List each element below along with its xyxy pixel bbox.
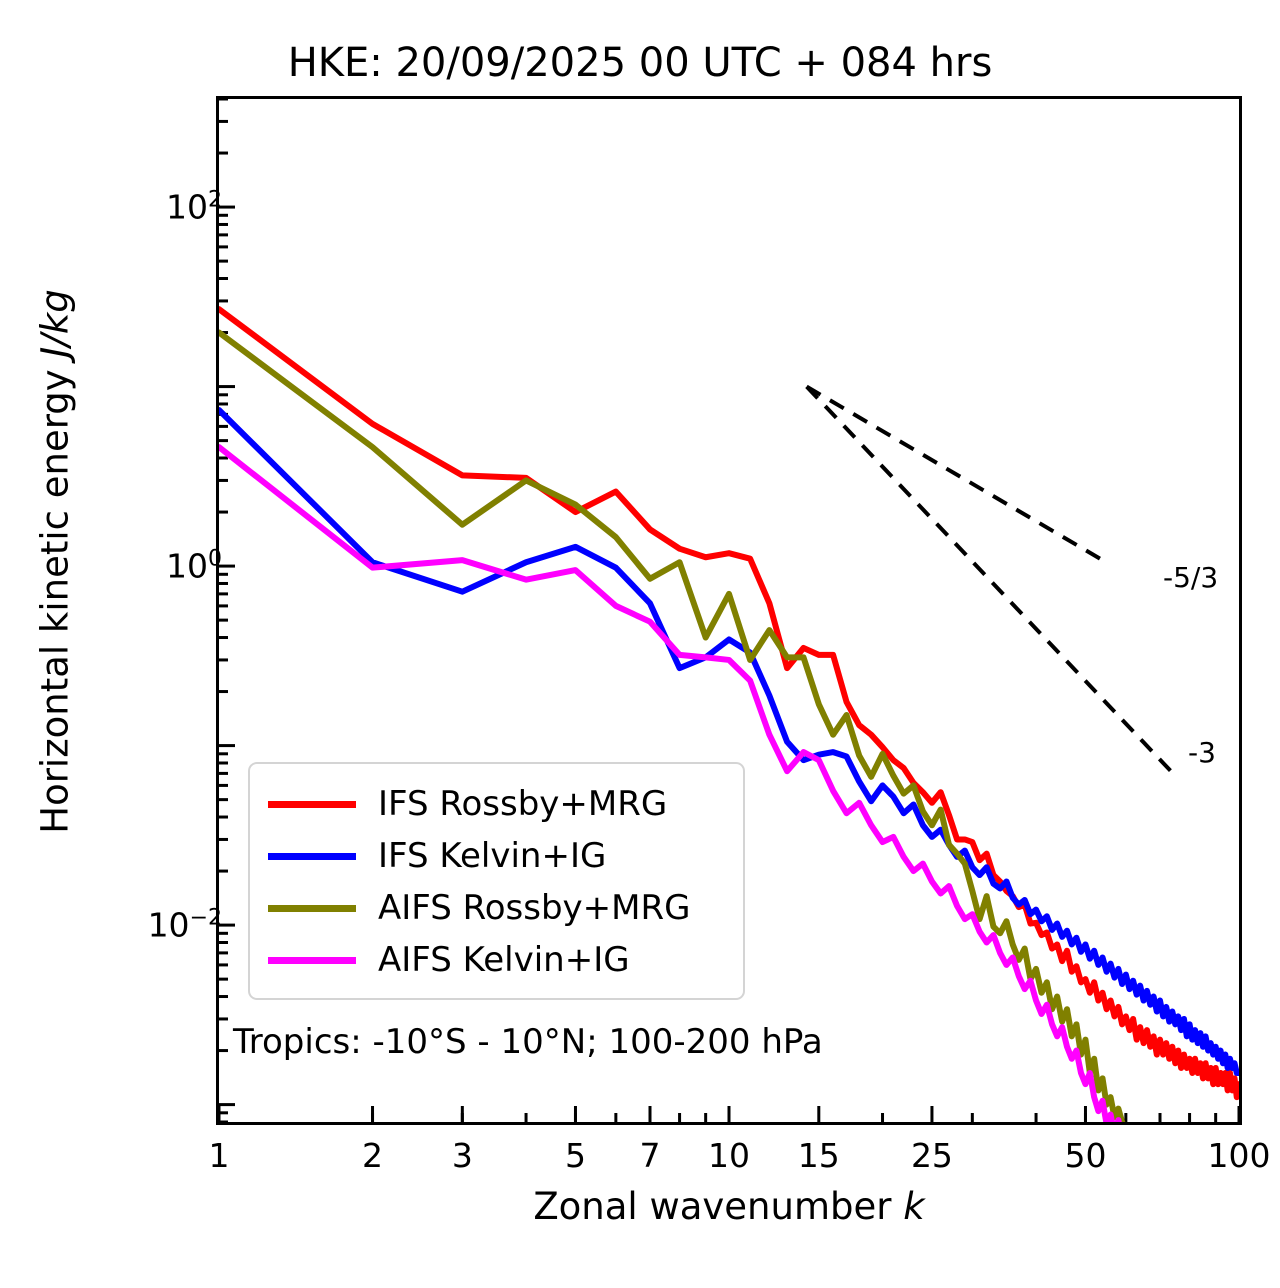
legend: IFS Rossby+MRGIFS Kelvin+IGAIFS Rossby+M… <box>248 762 745 1000</box>
legend-color-swatch <box>268 957 356 964</box>
region-annotation: Tropics: -10°S - 10°N; 100-200 hPa <box>233 1022 823 1062</box>
y-axis-label-units: J/kg <box>34 289 77 357</box>
page-title: HKE: 20/09/2025 00 UTC + 084 hrs <box>0 40 1280 86</box>
slope-label-3: -3 <box>1188 736 1216 769</box>
y-axis-label-main: Horizontal kinetic energy <box>34 358 77 834</box>
x-tick-label: 10 <box>708 1136 750 1175</box>
y-tick-label: 102 <box>166 188 222 227</box>
reference-slope-lines <box>807 387 1176 776</box>
x-tick-label: 3 <box>452 1136 473 1175</box>
x-tick-label: 15 <box>798 1136 840 1175</box>
x-tick-label: 1 <box>209 1136 230 1175</box>
legend-item[interactable]: AIFS Kelvin+IG <box>250 934 743 986</box>
legend-item[interactable]: IFS Kelvin+IG <box>250 830 743 882</box>
slope-label-5-3: -5/3 <box>1163 561 1218 594</box>
y-axis-label: Horizontal kinetic energy J/kg <box>34 242 77 882</box>
x-tick-label: 25 <box>911 1136 953 1175</box>
x-tick-label: 50 <box>1064 1136 1106 1175</box>
legend-item[interactable]: IFS Rossby+MRG <box>250 778 743 830</box>
series-lines <box>219 309 1239 1122</box>
y-tick-label: 100 <box>166 547 222 586</box>
legend-item-label: IFS Kelvin+IG <box>378 839 606 873</box>
y-tick-label: 10−2 <box>148 906 222 945</box>
x-tick-label: 2 <box>362 1136 383 1175</box>
legend-item-label: IFS Rossby+MRG <box>378 787 667 821</box>
legend-color-swatch <box>268 801 356 808</box>
x-tick-label: 7 <box>640 1136 661 1175</box>
x-tick-label: 100 <box>1208 1136 1271 1175</box>
legend-item[interactable]: AIFS Rossby+MRG <box>250 882 743 934</box>
x-axis-label-main: Zonal wavenumber <box>533 1185 903 1228</box>
x-tick-label: 5 <box>565 1136 586 1175</box>
legend-color-swatch <box>268 905 356 912</box>
legend-item-label: AIFS Kelvin+IG <box>378 943 630 977</box>
x-axis-label: Zonal wavenumber k <box>216 1185 1242 1228</box>
legend-color-swatch <box>268 853 356 860</box>
hke-spectra-figure: HKE: 20/09/2025 00 UTC + 084 hrs Horizon… <box>0 0 1280 1288</box>
reference-slope-line <box>807 387 1107 563</box>
legend-item-label: AIFS Rossby+MRG <box>378 891 690 925</box>
reference-slope-line <box>807 387 1176 776</box>
series-line <box>219 333 1126 1122</box>
x-axis-label-symbol: k <box>903 1185 924 1228</box>
